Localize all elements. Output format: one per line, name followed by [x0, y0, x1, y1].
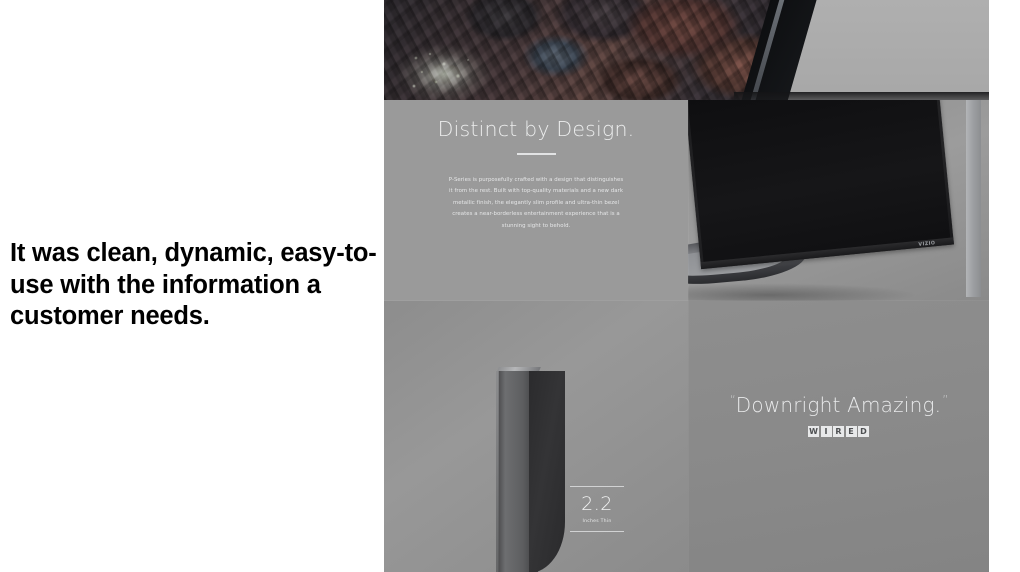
spec-rule-top [570, 486, 624, 487]
wired-logo-letter-0: W [808, 426, 819, 437]
wired-logo-letter-3: E [846, 426, 857, 437]
band-shadow-strip [734, 92, 989, 100]
product-collage: Distinct by Design. P-Series is purposef… [384, 0, 989, 572]
tv-edge-top-cap [497, 367, 541, 371]
collage-horizontal-seam [384, 300, 989, 301]
thinness-profile-panel: 2.2 Inches Thin [384, 301, 688, 572]
slide-canvas: It was clean, dynamic, easy-to-use with … [0, 0, 1020, 572]
spec-value: 2.2 [570, 493, 624, 515]
press-quote-inner: “Downright Amazing.” WIRED [688, 393, 989, 437]
tv-edge-highlight [496, 371, 499, 572]
copy-panel: Distinct by Design. P-Series is purposef… [384, 100, 688, 301]
quote-close-icon: ” [942, 393, 947, 407]
collage-vertical-seam [688, 100, 689, 572]
rocky-landscape-image [384, 0, 793, 100]
press-quote-text: Downright Amazing. [736, 393, 941, 417]
press-quote-line: “Downright Amazing.” [730, 393, 948, 417]
lichen-texture [406, 48, 484, 94]
wired-logo-letter-4: D [858, 426, 869, 437]
tv-product-panel: VIZIO [688, 100, 989, 301]
tv-screen: VIZIO [688, 100, 954, 269]
testimonial-quote-text: It was clean, dynamic, easy-to-use with … [10, 238, 378, 333]
top-band-screen-photo [384, 0, 989, 100]
wired-logo-letter-1: I [821, 426, 832, 437]
tv-floor-shadow [688, 283, 918, 301]
spec-rule-bottom [570, 531, 624, 532]
wired-logo: WIRED [688, 426, 989, 437]
wall-background [786, 0, 989, 100]
wired-logo-letter-2: R [833, 426, 844, 437]
vizio-logo: VIZIO [918, 240, 935, 248]
spec-label: Inches Thin [570, 519, 624, 524]
tv-screen-surface [688, 100, 950, 262]
tv-side-panel [966, 100, 981, 297]
copy-headline: Distinct by Design. [384, 100, 688, 141]
copy-body-text: P-Series is purposefully crafted with a … [448, 175, 624, 232]
testimonial-quote-block: It was clean, dynamic, easy-to-use with … [10, 238, 378, 333]
tv-edge-taper [529, 371, 565, 572]
headline-divider [517, 153, 556, 155]
press-quote-panel: “Downright Amazing.” WIRED [688, 301, 989, 572]
quote-open-icon: “ [730, 393, 735, 407]
thinness-spec-callout: 2.2 Inches Thin [570, 486, 624, 532]
